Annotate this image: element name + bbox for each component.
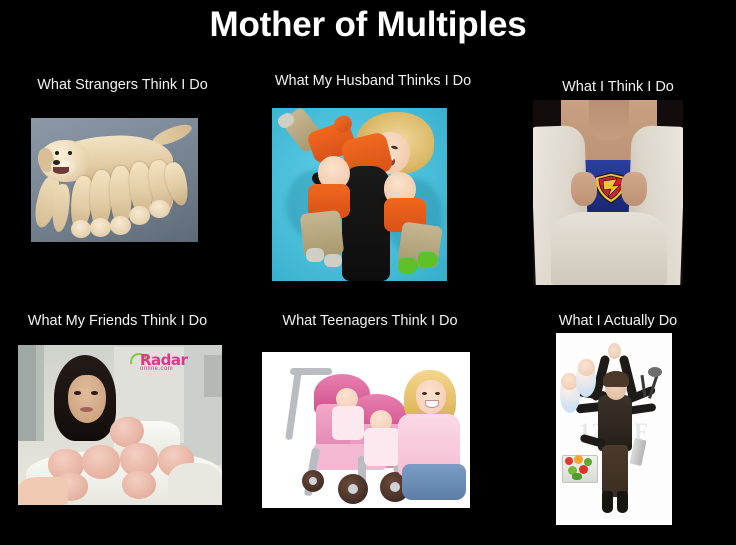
caption-husband: What My Husband Thinks I Do — [248, 72, 498, 90]
boot-right — [617, 491, 628, 513]
mother-eye-right — [91, 391, 98, 395]
puppy-head — [149, 200, 170, 218]
blanket-right — [168, 463, 222, 505]
white-shirt-bottom — [551, 212, 667, 285]
girl-smile — [425, 400, 439, 408]
puppy-head — [90, 218, 111, 237]
photo-teenagers — [262, 352, 470, 508]
hand-left — [571, 172, 597, 206]
newborn-baby — [122, 471, 156, 499]
photo-husband — [272, 108, 447, 281]
radar-watermark: Radar online.com — [128, 351, 198, 377]
stroller-wheel-hub — [309, 477, 317, 485]
baby-head-lower — [578, 359, 595, 376]
mother-torso — [342, 166, 390, 281]
radar-watermark-subtext: online.com — [140, 366, 173, 372]
girl-face — [416, 380, 446, 414]
hand-right — [621, 172, 647, 206]
dog-nose — [53, 160, 60, 165]
praying-hands — [608, 343, 621, 359]
mother-eye-left — [74, 391, 81, 395]
dog-mouth — [53, 167, 69, 174]
caption-friends: What My Friends Think I Do — [0, 312, 235, 330]
wall-panel — [36, 345, 44, 441]
mother-lips — [80, 407, 93, 412]
baby-shoe-left-2 — [324, 254, 342, 267]
dog-eye-right — [68, 151, 72, 155]
photo-i-think — [533, 100, 683, 285]
dog-eye-left — [55, 151, 59, 155]
mother-arm — [18, 477, 68, 505]
puppy-head — [110, 216, 131, 235]
meme-title: Mother of Multiples — [0, 4, 736, 46]
girl-jeans — [402, 464, 466, 500]
caption-strangers: What Strangers Think I Do — [0, 76, 245, 94]
photo-actually: 123RF — [556, 333, 672, 525]
spatula-head — [648, 367, 662, 377]
caption-actually: What I Actually Do — [500, 312, 736, 330]
vegetable — [565, 457, 573, 465]
baby-shoe-green — [398, 258, 418, 273]
girl-eye-right — [435, 392, 440, 395]
vegetable — [574, 455, 583, 464]
girl-eye-left — [422, 392, 427, 395]
stroller-wheel-hub — [348, 484, 358, 494]
newborn-baby — [82, 445, 120, 479]
stroller-handle — [285, 370, 302, 440]
stroller-handle-bar — [290, 368, 332, 375]
photo-strangers — [31, 118, 198, 242]
doll-body-front — [364, 428, 400, 466]
caption-i-think: What I Think I Do — [500, 78, 736, 96]
photo-friends: Radar online.com — [18, 345, 222, 505]
baby-shoe-green-2 — [418, 252, 438, 267]
mother-legs — [602, 445, 628, 497]
mother-hair — [603, 371, 629, 387]
doll-body-rear — [332, 406, 364, 440]
baby-shoe-left — [306, 248, 324, 262]
wall-panel — [18, 345, 36, 441]
mother-face — [68, 375, 106, 423]
boot-left — [602, 491, 613, 513]
puppy-head — [71, 220, 91, 238]
stroller-wheel-hub — [390, 482, 400, 492]
caption-teenagers: What Teenagers Think I Do — [240, 312, 500, 330]
vegetable — [572, 473, 582, 480]
puppy-head — [129, 206, 150, 225]
wall-cabinet-shadow — [204, 355, 222, 397]
meme-canvas: Mother of Multiples What Strangers Think… — [0, 0, 736, 545]
